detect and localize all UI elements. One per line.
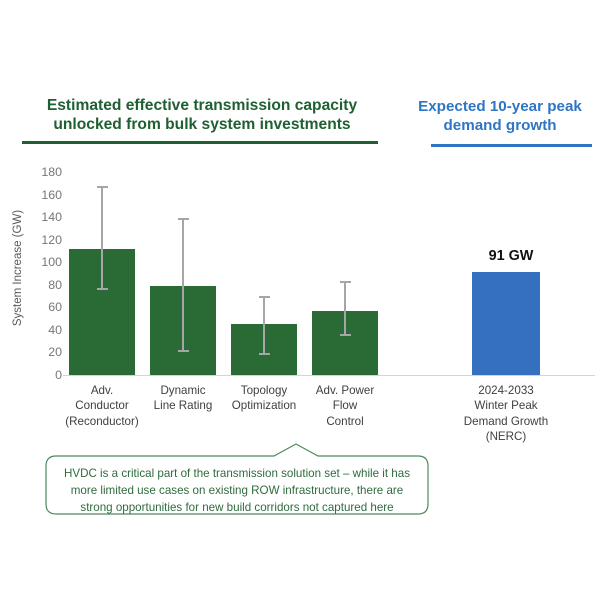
y-tick-label: 140 xyxy=(28,211,62,223)
x-category-label: Adv. Conductor (Reconductor) xyxy=(56,383,148,429)
error-bar-cap-upper xyxy=(340,281,351,283)
y-tick-label: 0 xyxy=(28,369,62,381)
error-bar-line xyxy=(182,218,184,352)
callout-text: HVDC is a critical part of the transmiss… xyxy=(56,466,418,516)
x-category-label: Adv. Power Flow Control xyxy=(299,383,391,429)
y-tick-label: 40 xyxy=(28,324,62,336)
error-bar-cap-lower xyxy=(97,288,108,290)
x-category-label: 2024-2033 Winter Peak Demand Growth (NER… xyxy=(431,383,581,444)
y-axis-title: System Increase (GW) xyxy=(12,158,24,378)
x-axis-line xyxy=(63,375,595,376)
x-category-label: Topology Optimization xyxy=(218,383,310,414)
y-tick-label: 80 xyxy=(28,279,62,291)
error-bar-cap-lower xyxy=(340,334,351,336)
error-bar-line xyxy=(101,186,103,291)
callout-bubble: HVDC is a critical part of the transmiss… xyxy=(44,442,430,518)
error-bar-cap-upper xyxy=(97,186,108,188)
y-tick-label: 60 xyxy=(28,301,62,313)
y-tick-label: 160 xyxy=(28,189,62,201)
error-bar-cap-lower xyxy=(178,350,189,352)
x-category-label: Dynamic Line Rating xyxy=(137,383,229,414)
y-tick-label: 120 xyxy=(28,234,62,246)
error-bar-cap-upper xyxy=(259,296,270,298)
error-bar-line xyxy=(344,281,346,335)
error-bar-cap-upper xyxy=(178,218,189,220)
bar xyxy=(472,272,540,375)
chart-figure: Estimated effective transmission capacit… xyxy=(0,0,600,600)
y-tick-label: 180 xyxy=(28,166,62,178)
blue-bar-value-label: 91 GW xyxy=(455,248,567,264)
y-tick-label: 100 xyxy=(28,256,62,268)
error-bar-cap-lower xyxy=(259,353,270,355)
y-tick-label: 20 xyxy=(28,346,62,358)
error-bar-line xyxy=(263,296,265,355)
